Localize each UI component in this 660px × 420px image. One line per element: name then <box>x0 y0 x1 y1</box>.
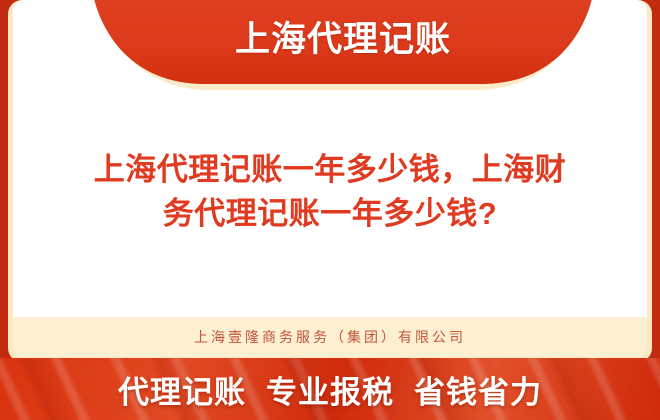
company-name: 上海壹隆商务服务（集团）有限公司 <box>194 327 466 347</box>
banner-red-shape <box>93 0 593 84</box>
slogan-part-3: 省钱省力 <box>414 367 542 412</box>
slogan-part-2: 专业报税 <box>266 367 394 412</box>
content-card: 上海代理记账 上海代理记账一年多少钱，上海财 务代理记账一年多少钱? 上海壹隆商… <box>13 0 647 357</box>
top-banner: 上海代理记账 <box>13 0 647 92</box>
banner-shape-icon <box>13 0 647 92</box>
banner-cream-edge <box>99 0 587 90</box>
company-strip: 上海壹隆商务服务（集团）有限公司 <box>13 317 647 357</box>
headline-line-1: 上海代理记账一年多少钱，上海财 <box>41 148 619 192</box>
headline-line-2: 务代理记账一年多少钱? <box>41 192 619 236</box>
poster-root: 上海代理记账 上海代理记账一年多少钱，上海财 务代理记账一年多少钱? 上海壹隆商… <box>0 0 660 420</box>
bottom-slogan-bar: 代理记账 专业报税 省钱省力 <box>0 358 660 420</box>
slogan-part-1: 代理记账 <box>118 367 246 412</box>
page-title: 上海代理记账一年多少钱，上海财 务代理记账一年多少钱? <box>41 148 619 236</box>
banner-title: 上海代理记账 <box>13 0 647 72</box>
slogan-text: 代理记账 专业报税 省钱省力 <box>0 358 660 420</box>
